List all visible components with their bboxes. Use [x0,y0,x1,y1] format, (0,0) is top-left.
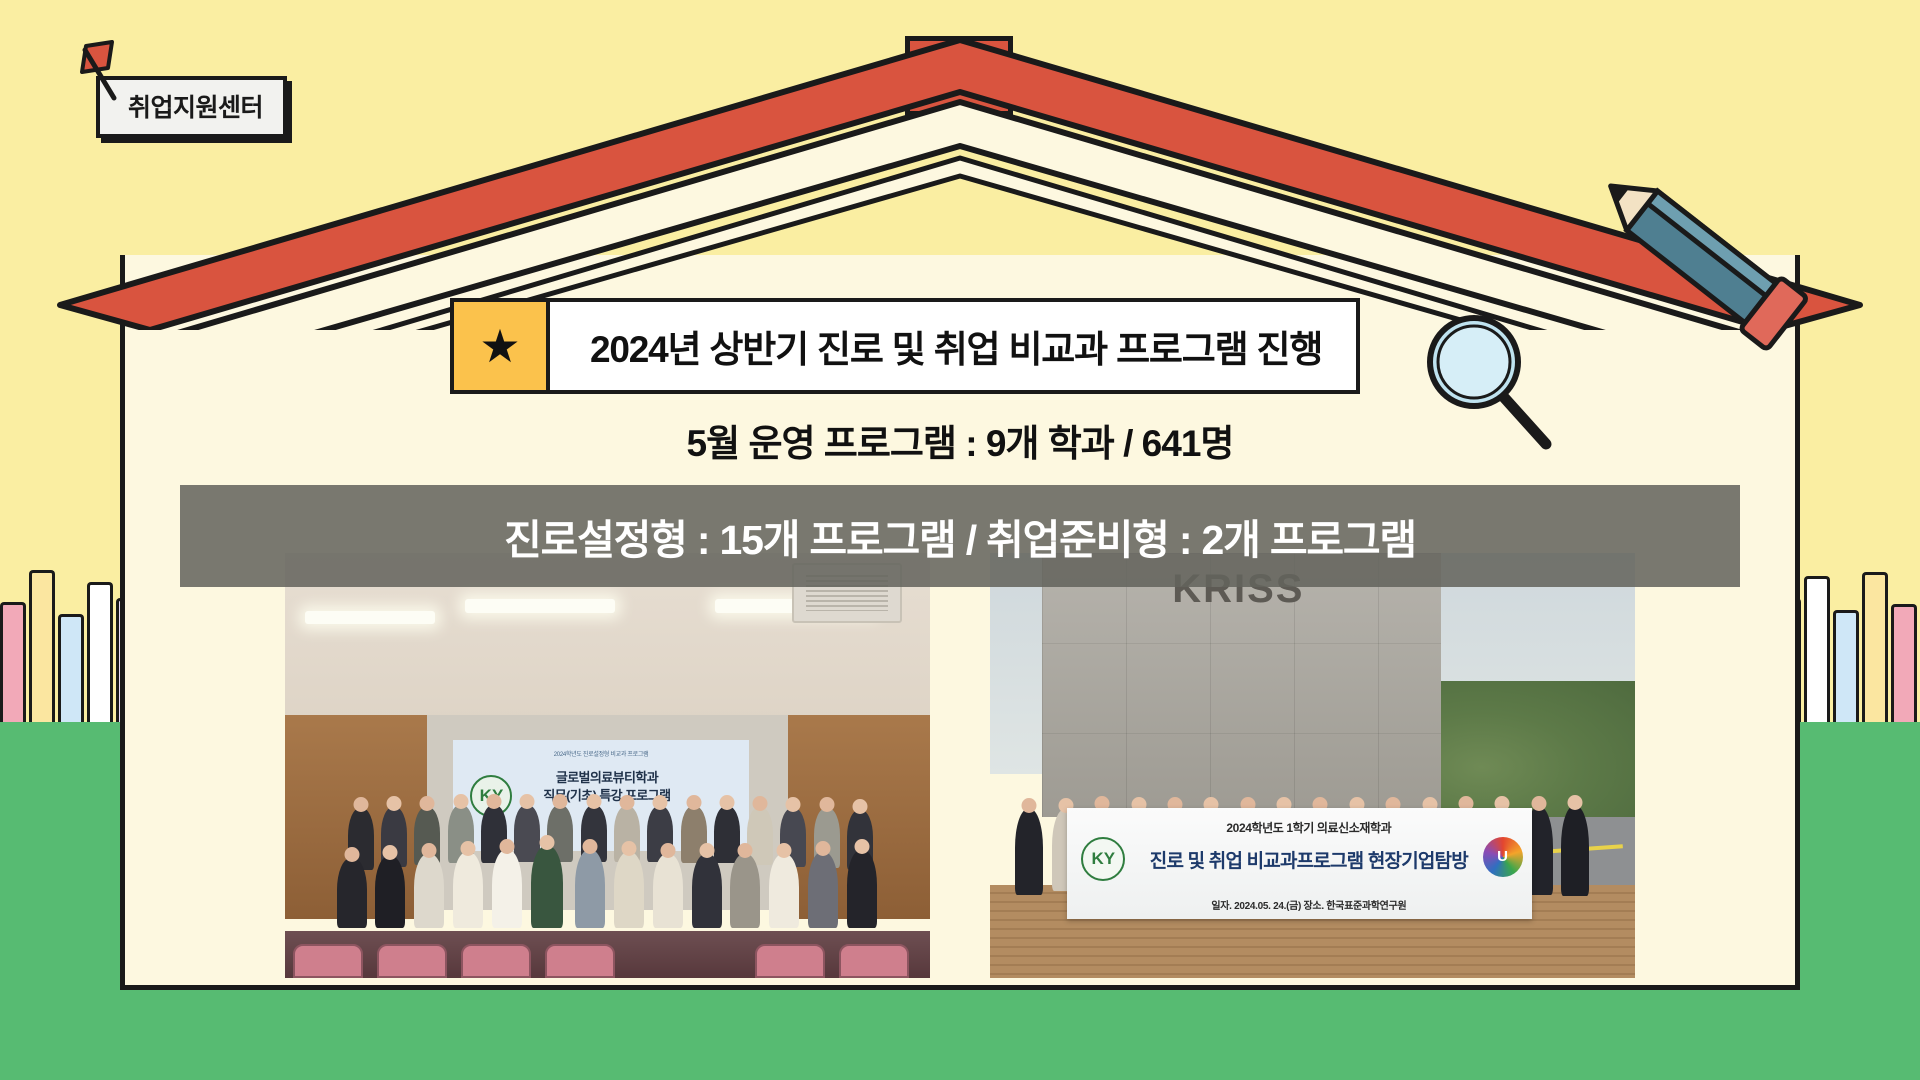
photo-gallery: KY 2024학년도 진로설정형 비교과 프로그램 글로벌의료뷰티학과 직무(기… [285,553,1635,978]
person [653,854,683,928]
book [1804,576,1830,722]
person [614,852,644,928]
book [1862,572,1888,722]
person [337,858,367,928]
slide-subtitle: 2024학년도 진로설정형 비교과 프로그램 [453,749,750,758]
seat [293,944,363,978]
person [414,854,444,928]
person [453,852,483,928]
student-group [337,761,892,931]
banner-line-2: 진로 및 취업 비교과프로그램 현장기업탐방 [1128,846,1490,873]
book [1891,604,1917,722]
person [714,806,740,863]
person [730,854,760,928]
program-breakdown-text: 진로설정형 : 15개 프로그램 / 취업준비형 : 2개 프로그램 [504,506,1416,566]
person [1015,809,1043,895]
star-icon: ★ [454,302,550,390]
event-banner: KY U 2024학년도 1학기 의료신소재학과 진로 및 취업 비교과프로그램… [1067,808,1531,919]
person [375,856,405,928]
book [87,582,113,722]
ceiling-light [305,611,435,624]
book [58,614,84,722]
ceiling-light [465,599,615,613]
pencil-icon [1580,180,1840,365]
ky-logo: KY [1081,837,1125,881]
photo-lecture-hall[interactable]: KY 2024학년도 진로설정형 비교과 프로그램 글로벌의료뷰티학과 직무(기… [285,553,930,978]
banner-line-3: 일자. 2024.05. 24.(금) 장소. 한국표준과학연구원 [1132,897,1485,912]
seat [461,944,531,978]
person [847,850,877,928]
person [575,850,605,928]
banner-line-1: 2024학년도 1학기 의료신소재학과 [1132,819,1485,836]
program-breakdown-bar: 진로설정형 : 15개 프로그램 / 취업준비형 : 2개 프로그램 [180,485,1740,587]
seat [545,944,615,978]
poster-canvas: 취업지원센터 ★ 2024년 상반기 진로 및 취업 비교과 프로그램 진행 5… [0,0,1920,1080]
page-title: 2024년 상반기 진로 및 취업 비교과 프로그램 진행 [550,302,1356,390]
book [0,602,26,722]
person [808,852,838,928]
book [1833,610,1859,722]
person [769,854,799,928]
person [531,846,563,928]
person [492,850,522,928]
title-banner: ★ 2024년 상반기 진로 및 취업 비교과 프로그램 진행 [450,298,1360,394]
photo-kriss-visit[interactable]: KRISS [990,553,1635,978]
person [1561,806,1589,896]
magnifying-glass-icon [1420,308,1570,473]
book [29,570,55,722]
seat [839,944,909,978]
seat [755,944,825,978]
person [692,854,722,928]
subtitle-stats: 5월 운영 프로그램 : 9개 학과 / 641명 [0,413,1920,467]
flag-pin-icon [72,40,142,125]
seat [377,944,447,978]
